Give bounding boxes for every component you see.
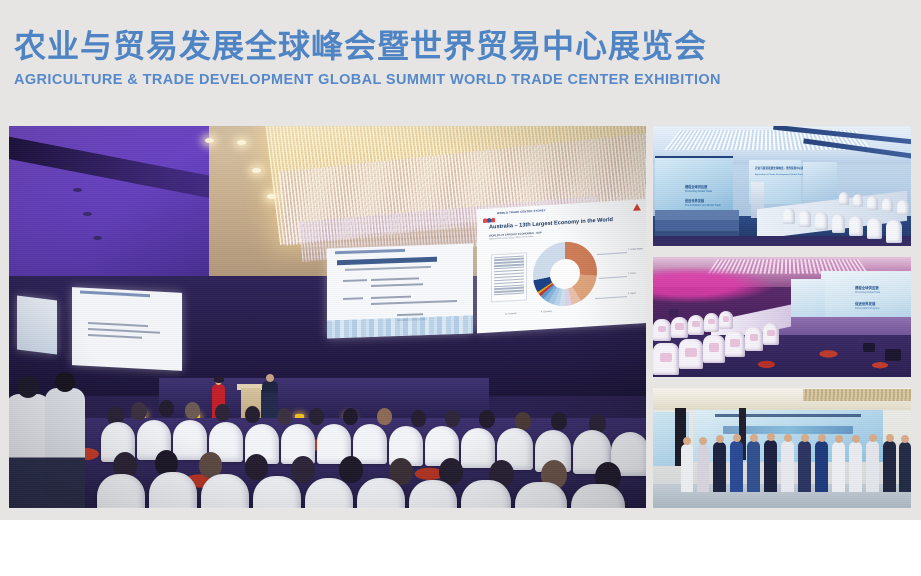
banquet-chair <box>679 339 703 369</box>
conference-chair <box>867 196 878 210</box>
conference-chair <box>886 220 902 243</box>
conference-chair <box>882 198 893 212</box>
audience-chair <box>149 472 197 508</box>
delegate <box>899 442 911 492</box>
delegate <box>883 441 896 492</box>
wtc-brand-text: WORLD TRADE CENTER SYDNEY <box>497 209 546 215</box>
audience-chair <box>173 420 207 460</box>
backdrop-title-bar <box>715 414 861 417</box>
slide-subtitle-en-bar <box>345 266 431 271</box>
attendee-head <box>215 404 230 421</box>
audience-chair <box>201 474 249 508</box>
attendee-head <box>277 408 292 425</box>
banquet-chair <box>704 313 719 332</box>
thumbnail-purple-hall[interactable]: 携程全球供应链 Promoting Global Trade 促进世界发展 Dr… <box>653 257 911 377</box>
attendee-head <box>551 412 567 430</box>
conference-chair <box>853 194 863 207</box>
slide-title-cn-bar <box>337 256 465 265</box>
banquet-chair <box>725 331 745 357</box>
stage-lighting-glow <box>653 267 773 303</box>
banquet-chair <box>688 315 704 335</box>
delegate <box>798 441 811 492</box>
audience-chair <box>253 476 301 508</box>
gdp-donut-chart <box>533 240 597 308</box>
slide-page: 农业与贸易发展全球峰会暨世界贸易中心展览会 AGRICULTURE & TRAD… <box>0 0 921 576</box>
banquet-chair <box>653 319 671 341</box>
delegate <box>815 441 828 492</box>
banquet-chair <box>671 317 688 338</box>
stage-platform <box>159 378 489 416</box>
delegate <box>832 442 845 492</box>
delegate <box>697 444 709 492</box>
banquet-chair <box>763 323 779 345</box>
conference-chair <box>815 212 828 230</box>
attendee-head <box>245 406 260 423</box>
delegate <box>730 441 743 492</box>
attendee-head <box>343 408 358 425</box>
thumbnail-blue-hall[interactable]: 携程全球供应链 Promoting Global Trade 促进世界发展 Th… <box>653 126 911 246</box>
page-title-chinese: 农业与贸易发展全球峰会暨世界贸易中心展览会 <box>14 26 904 66</box>
chart-legend <box>491 252 527 302</box>
main-conference-photo[interactable]: WORLD TRADE CENTER SYDNEY Australia – 13… <box>9 126 646 508</box>
thumbnail-group-photo[interactable] <box>653 388 911 508</box>
world-trade-center-logo-icon <box>483 213 495 223</box>
side-screen-left <box>17 296 57 355</box>
conference-chair <box>897 200 909 215</box>
attendee-head <box>185 402 200 419</box>
audience-chair <box>97 474 145 508</box>
banquet-chair <box>653 343 679 375</box>
page-header: 农业与贸易发展全球峰会暨世界贸易中心展览会 AGRICULTURE & TRAD… <box>14 26 904 88</box>
banquet-chair <box>745 327 763 351</box>
thumbnail-column: 携程全球供应链 Promoting Global Trade 促进世界发展 Th… <box>653 126 911 508</box>
delegate <box>866 441 879 492</box>
delegate <box>747 441 760 492</box>
conference-chair <box>867 218 882 239</box>
wood-ceiling <box>803 389 911 401</box>
conference-chair <box>849 216 863 236</box>
led-screen-right <box>803 162 837 200</box>
page-title-english: AGRICULTURE & TRADE DEVELOPMENT GLOBAL S… <box>14 72 904 88</box>
banquet-chair <box>719 311 733 329</box>
conference-chair <box>799 210 811 227</box>
banquet-chair <box>703 335 725 363</box>
attendee-head <box>411 410 426 427</box>
conference-chair <box>832 214 845 233</box>
aerotropolis-logo-icon <box>633 203 641 210</box>
delegate <box>713 442 726 492</box>
delegate <box>781 441 794 492</box>
attendee-head <box>445 410 460 427</box>
standing-attendee <box>45 388 85 508</box>
audience-chair <box>461 428 495 468</box>
photo-gallery: WORLD TRADE CENTER SYDNEY Australia – 13… <box>9 126 911 508</box>
attendee-head <box>131 402 147 420</box>
delegate <box>764 440 777 492</box>
attendee-head <box>309 408 324 425</box>
attendee-head <box>377 408 392 425</box>
attendee-head <box>245 454 268 480</box>
side-screen-chinese <box>72 287 182 371</box>
attendee-head <box>291 456 315 483</box>
attendee-head <box>159 400 174 417</box>
delegate <box>681 444 693 492</box>
delegate <box>849 442 862 492</box>
presentation-slide-australia: WORLD TRADE CENTER SYDNEY Australia – 13… <box>477 199 646 334</box>
conference-chair <box>783 208 795 224</box>
conference-chair <box>839 192 849 205</box>
attendee-head <box>479 410 495 428</box>
presentation-slide-chinese <box>327 243 473 338</box>
attendee-head <box>339 456 363 483</box>
